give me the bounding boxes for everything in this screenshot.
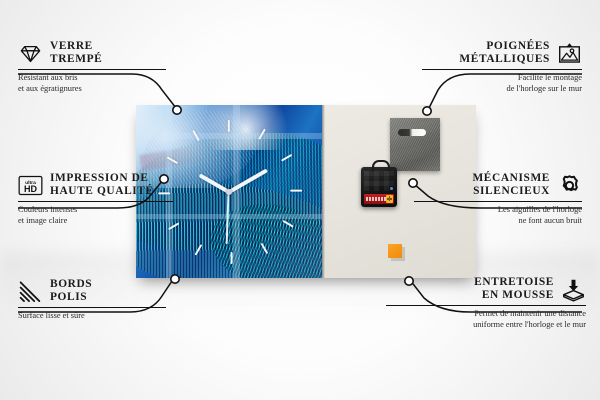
- callout-header: POIGNÉES MÉTALLIQUES: [392, 40, 582, 66]
- leader-dot-poignees: [423, 107, 431, 115]
- callout-mecanisme-silencieux: MÉCANISME SILENCIEUX Les aiguilles de l'…: [386, 172, 582, 226]
- ultra-hd-icon: ultra HD: [18, 173, 43, 198]
- callout-header: MÉCANISME SILENCIEUX: [386, 172, 582, 198]
- callout-header: ENTRETOISE EN MOUSSE: [358, 276, 586, 302]
- infographic-stage: VERRE TREMPÉ Résistant aux bris et aux é…: [0, 0, 600, 400]
- foam-spacer-icon: [561, 277, 586, 302]
- callout-title: ENTRETOISE EN MOUSSE: [474, 276, 554, 302]
- svg-text:HD: HD: [24, 184, 38, 194]
- callout-rule: [422, 69, 582, 70]
- polished-edges-icon: [18, 279, 43, 304]
- callout-rule: [18, 307, 166, 308]
- callout-entretoise-en-mousse: ENTRETOISE EN MOUSSE Permet de maintenir…: [358, 276, 586, 330]
- callout-title: VERRE TREMPÉ: [50, 40, 102, 66]
- callout-header: ultra HD IMPRESSION DE HAUTE QUALITÉ: [18, 172, 208, 198]
- callout-title: MÉCANISME SILENCIEUX: [472, 172, 550, 198]
- callout-rule: [414, 201, 582, 202]
- callout-title: POIGNÉES MÉTALLIQUES: [459, 40, 550, 66]
- gear-icon: [557, 173, 582, 198]
- callout-rule: [386, 305, 586, 306]
- callout-impression-haute-qualite: ultra HD IMPRESSION DE HAUTE QUALITÉ Cou…: [18, 172, 208, 226]
- diamond-icon: [18, 41, 43, 66]
- leader-dot-verre-trempe: [173, 106, 181, 114]
- callout-rule: [18, 69, 166, 70]
- callout-header: VERRE TREMPÉ: [18, 40, 198, 66]
- callout-header: BORDS POLIS: [18, 278, 198, 304]
- callout-rule: [18, 201, 173, 202]
- callout-title: BORDS POLIS: [50, 278, 92, 304]
- callout-title: IMPRESSION DE HAUTE QUALITÉ: [50, 172, 154, 198]
- hanging-frame-icon: [557, 41, 582, 66]
- callout-bords-polis: BORDS POLIS Surface lisse et sûre: [18, 278, 198, 322]
- callout-poignees-metalliques: POIGNÉES MÉTALLIQUES Facilite le montage…: [392, 40, 582, 94]
- callout-verre-trempe: VERRE TREMPÉ Résistant aux bris et aux é…: [18, 40, 198, 94]
